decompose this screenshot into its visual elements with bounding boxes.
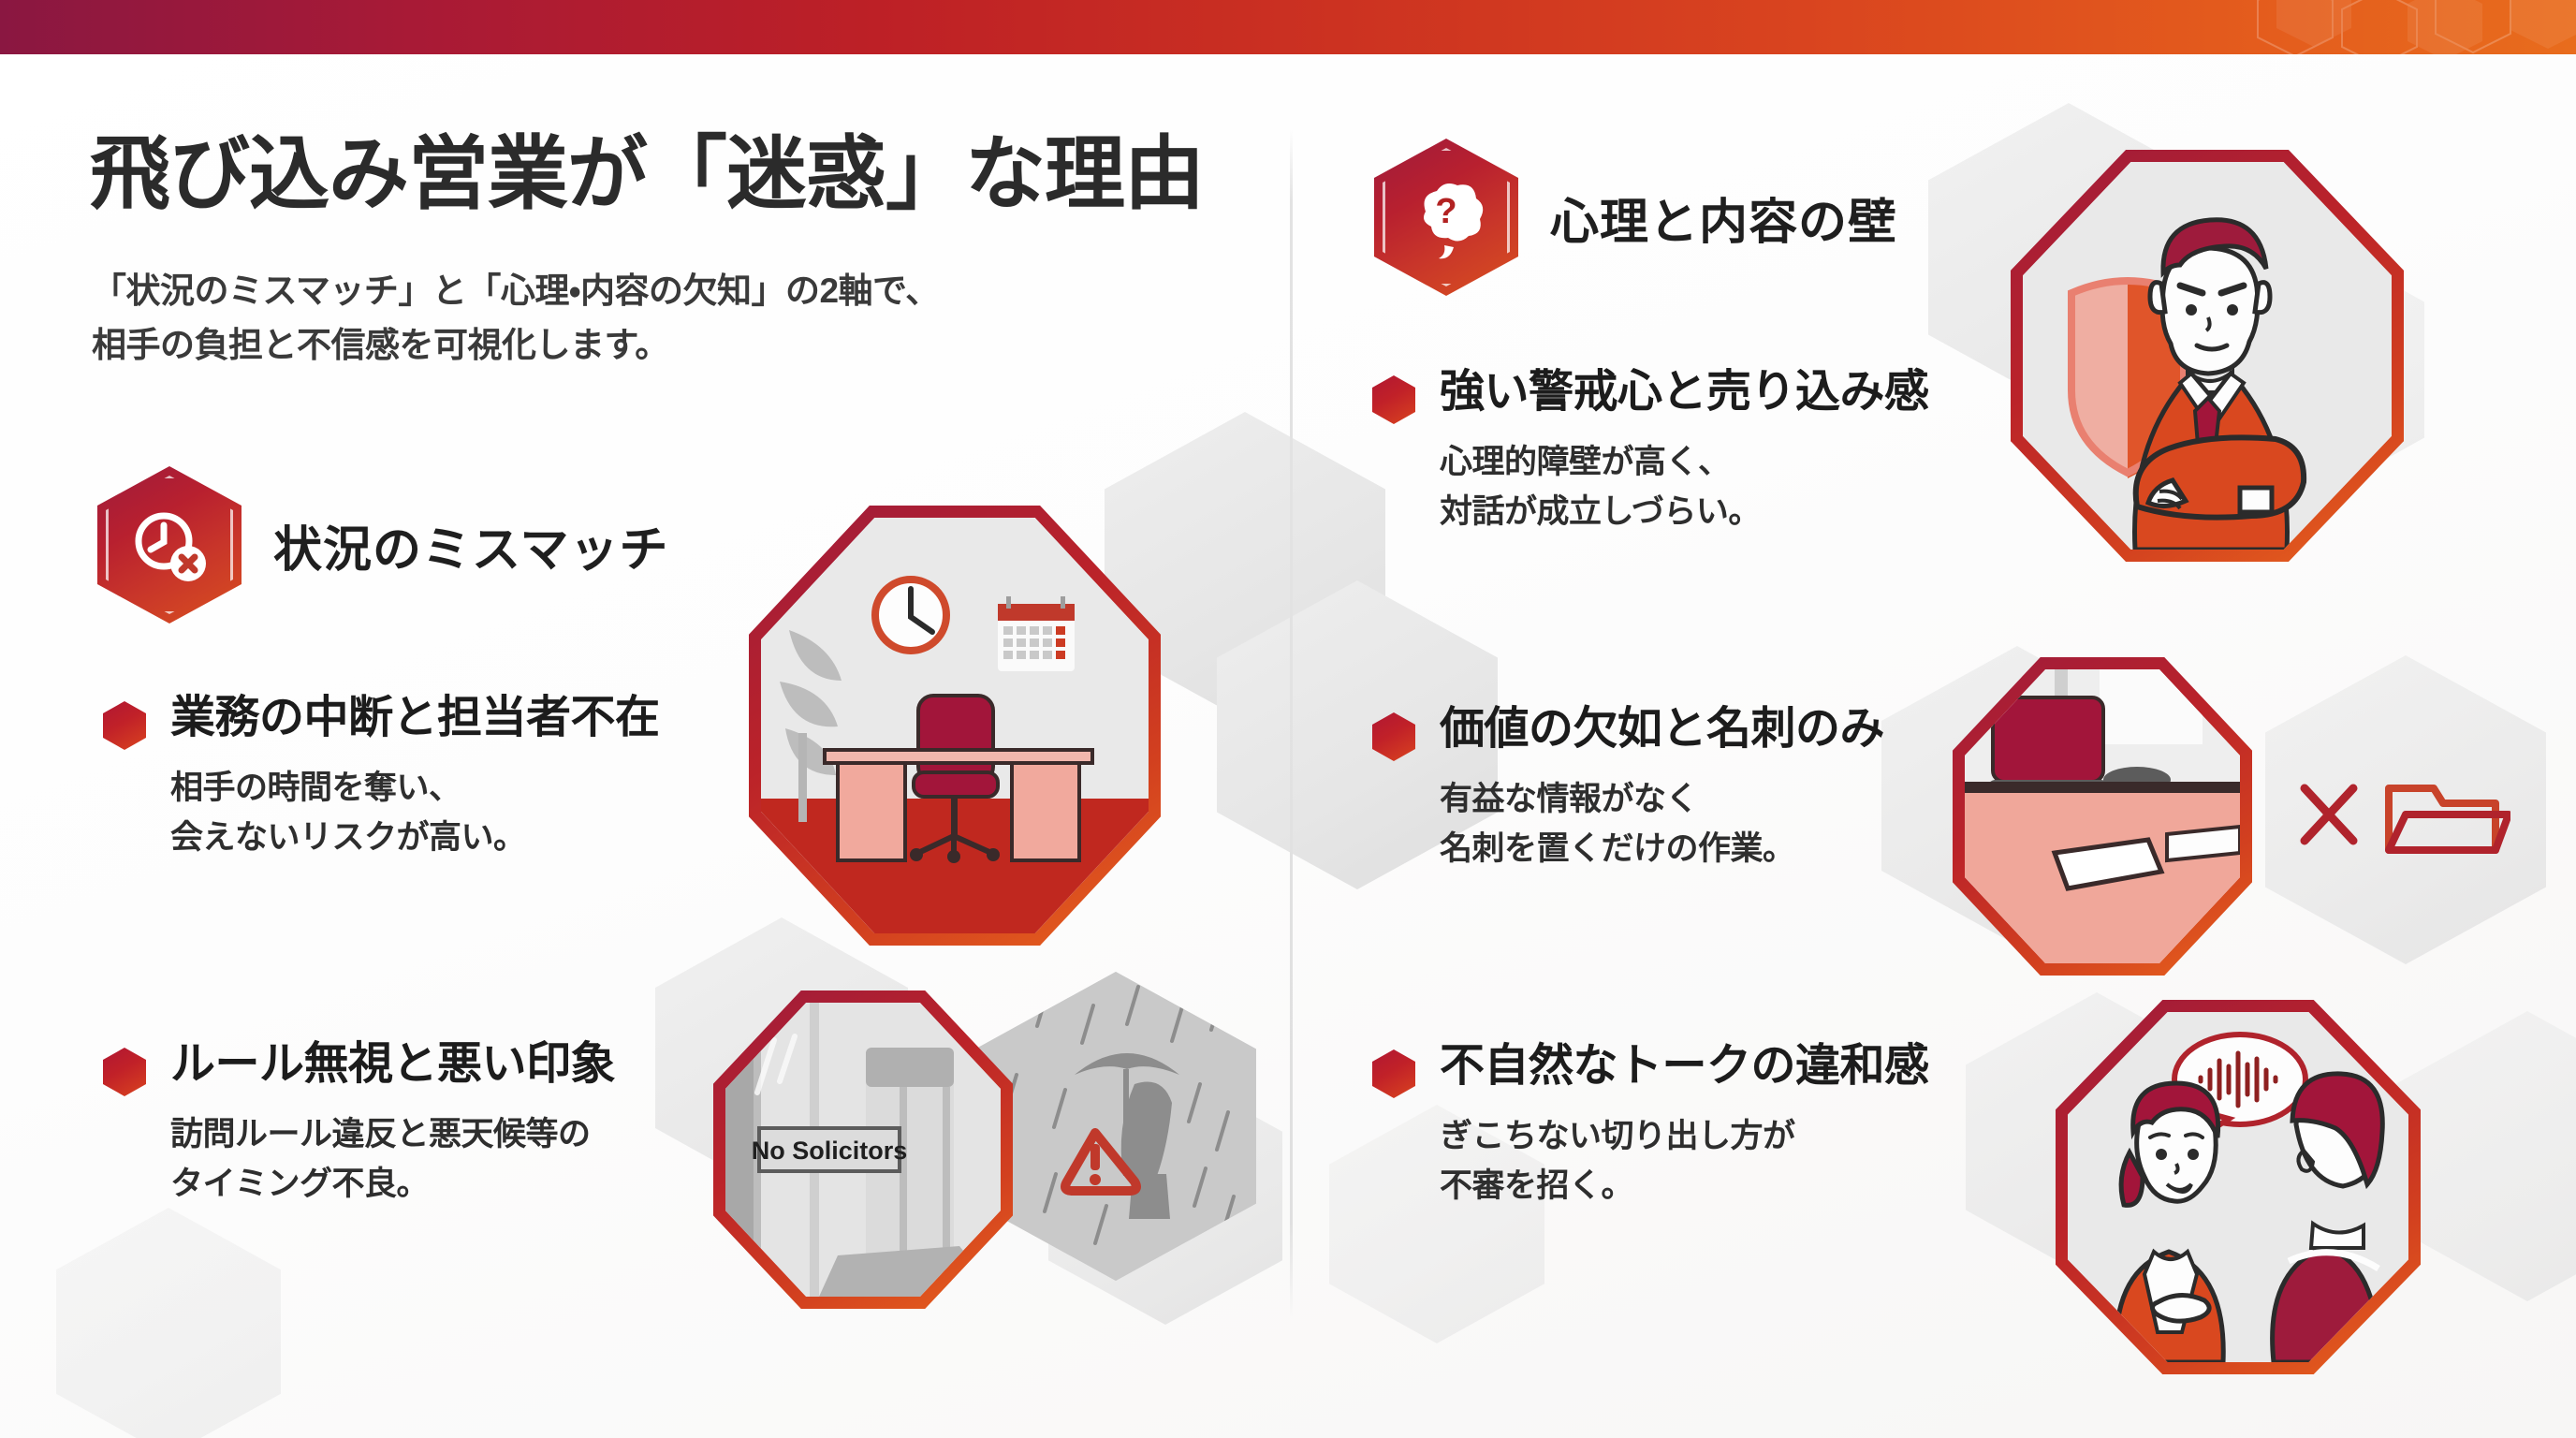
no-solicitors-sign: No Solicitors [752,1128,908,1171]
column-divider [1290,129,1293,1318]
clock-x-icon [97,466,241,624]
awkward-conversation-illustration [2056,1000,2421,1374]
hexagon-bullet-icon [103,701,146,750]
wall-clock [875,580,946,651]
hexagon-pattern-icon [1734,0,2576,54]
bullet-right-3-desc-line-2: 不審を招く。 [1440,1161,1929,1211]
bullet-left-1: 業務の中断と担当者不在 相手の時間を奪い、 会えないリスクが高い。 [103,693,660,862]
rain-umbrella-icon [975,972,1256,1281]
section-header-left: 状況のミスマッチ [97,466,668,624]
hexagon-bullet-icon [1372,1049,1415,1098]
page-title: 飛び込み営業が「迷惑」な理由 [90,131,1279,218]
x-mark-icon [2305,788,2353,841]
bullet-left-1-desc-line-2: 会えないリスクが高い。 [170,813,660,862]
hexagon-bullet-icon [1372,375,1415,424]
bullet-right-1-desc-line-2: 対話が成立しづらい。 [1440,487,1929,536]
bullet-right-3-title: 不自然なトークの違和感 [1440,1041,1929,1092]
bullet-right-2-title: 価値の欠如と名刺のみ [1440,704,1884,755]
bullet-left-2-desc-line-2: タイミング不良。 [170,1159,615,1209]
bullet-right-2-desc: 有益な情報がなく 名刺を置くだけの作業。 [1440,774,1884,873]
no-solicitors-door-illustration: No Solicitors [713,990,1013,1309]
section-header-right: ? 心理と内容の壁 [1374,139,1897,296]
business-card-on-desk-illustration [1953,657,2252,976]
bullet-right-2: 価値の欠如と名刺のみ 有益な情報がなく 名刺を置くだけの作業。 [1372,704,1884,873]
bullet-left-2: ルール無視と悪い印象 訪問ルール違反と悪天候等の タイミング不良。 [103,1039,615,1209]
top-accent-bar [0,0,2576,54]
rainy-weather-illustration [975,972,1256,1281]
businessman-shield-icon [2023,162,2392,550]
svg-text:?: ? [1435,192,1456,231]
empty-office-desk-illustration [749,506,1161,946]
bullet-right-1-desc-line-1: 心理的障壁が高く、 [1440,437,1929,487]
page-subtitle: 「状況のミスマッチ」と「心理・内容の欠知」の2軸で、 相手の負担と不信感を可視化… [92,264,1196,374]
conversation-icon [2068,1012,2408,1362]
reception-desk-card-icon [1965,669,2240,963]
bullet-right-2-desc-line-1: 有益な情報がなく [1440,774,1884,824]
bullet-right-1-desc: 心理的障壁が高く、 対話が成立しづらい。 [1440,437,1929,536]
office-chair [1993,697,2103,782]
no-value-folder-illustration [2295,768,2510,871]
bullet-left-2-desc-line-1: 訪問ルール違反と悪天候等の [170,1109,615,1159]
office-scene-icon [761,518,1149,933]
bullet-left-2-desc: 訪問ルール違反と悪天候等の タイミング不良。 [170,1109,615,1209]
infographic-page: 飛び込み営業が「迷惑」な理由 「状況のミスマッチ」と「心理・内容の欠知」の2軸で… [0,0,2576,1438]
bullet-left-1-desc: 相手の時間を奪い、 会えないリスクが高い。 [170,763,660,862]
bullet-right-3-desc: ぎこちない切り出し方が 不審を招く。 [1440,1111,1929,1211]
folder-icon [2389,788,2509,850]
bullet-left-1-desc-line-1: 相手の時間を奪い、 [170,763,660,813]
bullet-left-2-title: ルール無視と悪い印象 [170,1039,615,1090]
brain-question-icon: ? [1374,139,1518,296]
bullet-right-3: 不自然なトークの違和感 ぎこちない切り出し方が 不審を招く。 [1372,1041,1929,1211]
hexagon-bullet-icon [103,1048,146,1096]
guarded-businessman-illustration [2011,150,2404,562]
svg-text:No Solicitors: No Solicitors [752,1137,908,1165]
section-title-right: 心理と内容の壁 [1550,183,1897,253]
bullet-left-1-title: 業務の中断と担当者不在 [170,693,660,743]
bullet-right-2-desc-line-2: 名刺を置くだけの作業。 [1440,824,1884,873]
bullet-right-3-desc-line-1: ぎこちない切り出し方が [1440,1111,1929,1161]
glass-door-icon: No Solicitors [725,1003,1001,1297]
subtitle-line-2: 相手の負担と不信感を可視化します。 [92,318,1196,373]
section-title-left: 状況のミスマッチ [273,510,668,580]
wall-calendar [998,596,1075,671]
bullet-right-1-title: 強い警戒心と売り込み感 [1440,367,1929,418]
subtitle-line-1: 「状況のミスマッチ」と「心理・内容の欠知」の2軸で、 [92,264,1196,318]
bullet-right-1: 強い警戒心と売り込み感 心理的障壁が高く、 対話が成立しづらい。 [1372,367,1929,536]
hexagon-bullet-icon [1372,712,1415,761]
